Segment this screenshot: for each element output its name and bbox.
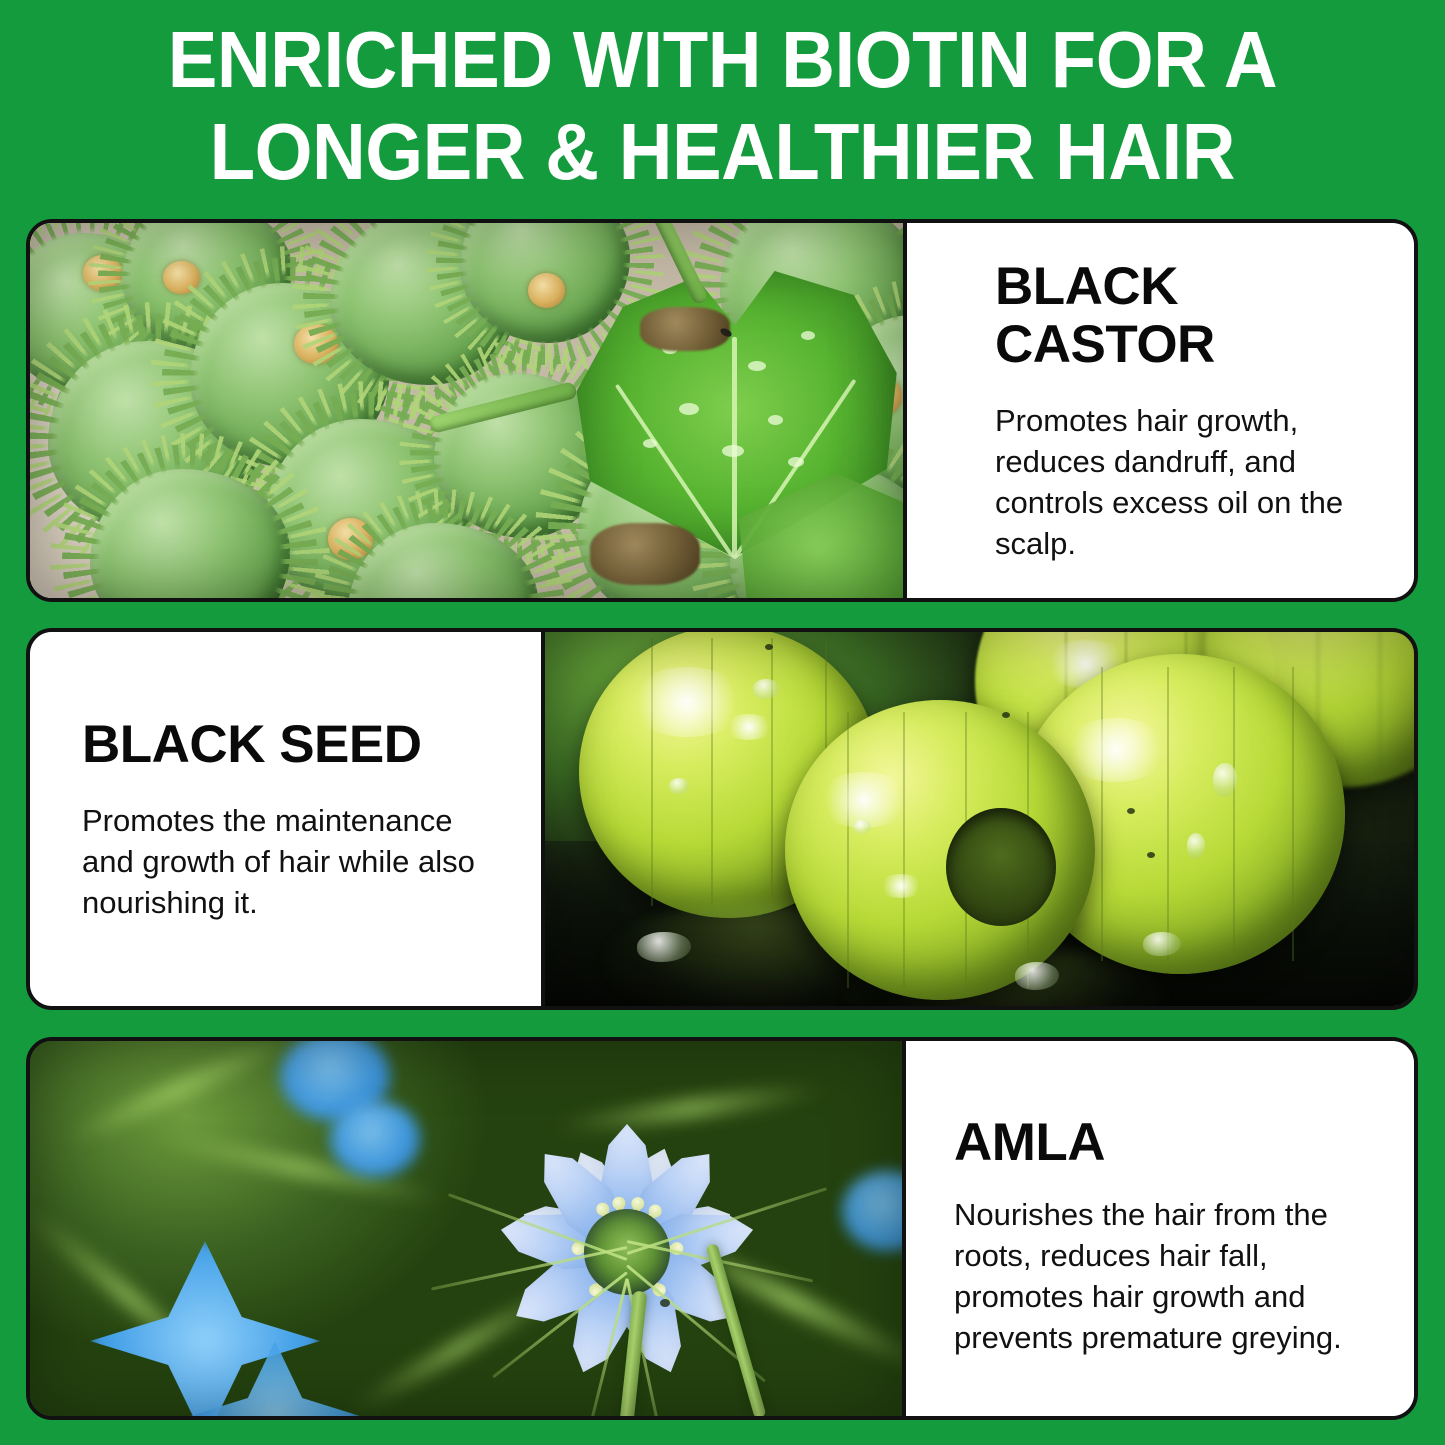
castor-plant-photo: [30, 223, 907, 598]
black-castor-title: BLACK CASTOR: [995, 258, 1374, 374]
header-title-line-2: LONGER & HEALTHIER HAIR: [210, 106, 1235, 198]
header-title-line-1: ENRICHED WITH BIOTIN FOR A: [168, 14, 1277, 106]
amla-description: Nourishes the hair from the roots, reduc…: [954, 1194, 1374, 1358]
black-castor-text-pane: BLACK CASTOR Promotes hair growth, reduc…: [907, 223, 1414, 598]
amla-title: AMLA: [954, 1114, 1374, 1172]
black-castor-description: Promotes hair growth, reduces dandruff, …: [995, 400, 1374, 564]
amla-fruit-front: [785, 700, 1095, 1000]
nigella-black-seed-flower-photo: [30, 1041, 906, 1416]
ingredient-card-amla: AMLA Nourishes the hair from the roots, …: [26, 1037, 1418, 1420]
amla-text-pane: AMLA Nourishes the hair from the roots, …: [906, 1041, 1414, 1416]
black-seed-title: BLACK SEED: [82, 716, 501, 774]
black-seed-description: Promotes the maintenance and growth of h…: [82, 800, 501, 923]
ingredient-card-black-seed: BLACK SEED Promotes the maintenance and …: [26, 628, 1418, 1010]
header-banner: ENRICHED WITH BIOTIN FOR A LONGER & HEAL…: [0, 0, 1445, 218]
black-seed-text-pane: BLACK SEED Promotes the maintenance and …: [30, 632, 545, 1006]
ingredient-card-black-castor: BLACK CASTOR Promotes hair growth, reduc…: [26, 219, 1418, 602]
amla-gooseberry-photo: [545, 632, 1414, 1006]
